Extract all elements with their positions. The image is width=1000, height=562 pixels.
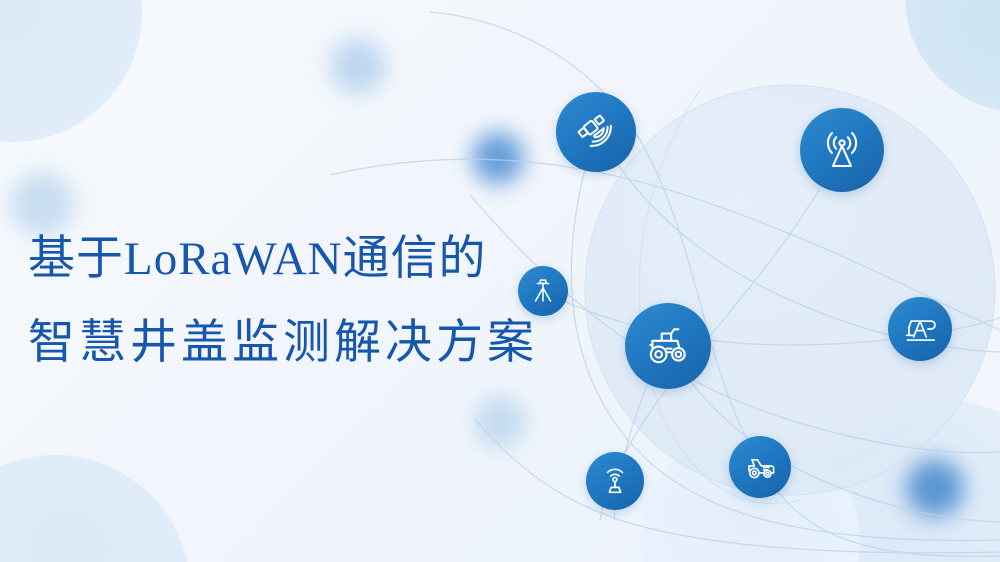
node-radio-tower[interactable]	[800, 108, 884, 192]
decor-dot-d	[474, 396, 526, 448]
node-sensor-beacon[interactable]	[586, 452, 644, 510]
node-satellite[interactable]	[556, 92, 636, 172]
decor-dot-a	[330, 38, 386, 94]
sensor-beacon-icon	[598, 464, 632, 498]
decor-circle-top-left	[0, 0, 142, 142]
node-tractor[interactable]	[625, 303, 711, 389]
oil-pumpjack-icon	[901, 310, 939, 348]
node-harvester[interactable]	[729, 436, 791, 498]
satellite-dish-icon	[573, 109, 619, 155]
decor-dot-e	[906, 459, 964, 517]
node-oil-pumpjack[interactable]	[888, 297, 952, 361]
slide-canvas: 基于LoRaWAN通信的 智慧井盖监测解决方案	[0, 0, 1000, 562]
slide-title: 基于LoRaWAN通信的 智慧井盖监测解决方案	[28, 228, 568, 374]
tractor-icon	[643, 321, 693, 371]
harvester-icon	[742, 449, 779, 486]
decor-circle-bottom-left	[0, 455, 190, 562]
title-line-1: 基于LoRaWAN通信的	[28, 228, 568, 290]
network-globe	[585, 85, 995, 495]
title-line-2: 智慧井盖监测解决方案	[28, 312, 568, 374]
decor-dot-c	[472, 132, 524, 184]
decor-circle-top-right	[905, 0, 1000, 112]
decor-dot-b	[10, 172, 74, 236]
radio-tower-icon	[818, 126, 866, 174]
decor-circle-bottom-right	[790, 400, 1000, 562]
